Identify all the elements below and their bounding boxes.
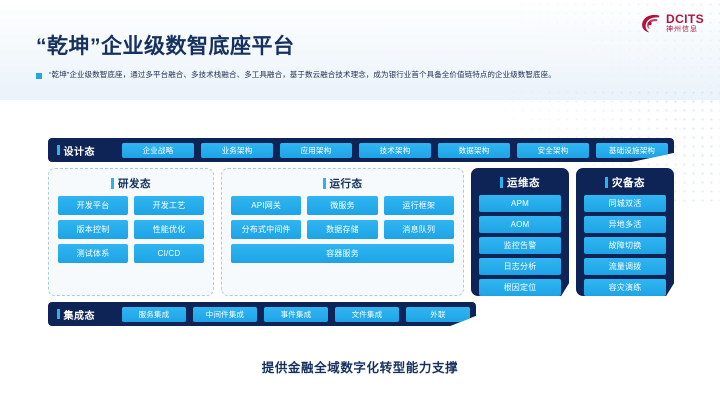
panel-dr-row: 容灾演练 [584,279,666,296]
panel-ops-row: AOM [479,216,561,233]
panel-dev[interactable]: 研发态 开发平台 开发工艺 版本控制 性能优化 测试体系 CI/CD [48,168,214,296]
accent-tick-icon [57,309,60,319]
panel-dr-row: 同城双活 [584,195,666,212]
panel-dev-row: 开发平台 开发工艺 [58,196,204,215]
panel-dr-row: 异地多活 [584,216,666,233]
panel-ops-row: 监控告警 [479,237,561,254]
panel-dev-title: 研发态 [58,176,204,190]
layer-integration[interactable]: 集成态 服务集成 中间件集成 事件集成 文件集成 外联 [48,302,476,326]
layer-design[interactable]: 设计态 企业战略 业务架构 应用架构 技术架构 数据架构 安全架构 基础设施架构 [48,138,674,162]
panel-dev-title-text: 研发态 [118,176,151,191]
chip-run-0-1[interactable]: 微服务 [307,196,377,215]
chip-run-0-2[interactable]: 运行框架 [384,196,454,215]
chip-dr-2[interactable]: 故障切换 [584,237,666,254]
panel-run-row: 容器服务 [231,244,454,263]
chip-dev-0-0[interactable]: 开发平台 [58,196,128,215]
panel-dev-row: 版本控制 性能优化 [58,220,204,239]
chip-integration-4[interactable]: 外联 [406,307,470,322]
panel-ops-row: 根因定位 [479,279,561,296]
chip-dev-2-1[interactable]: CI/CD [134,244,204,263]
dcits-swirl-icon [640,12,662,34]
chip-run-0-0[interactable]: API网关 [231,196,301,215]
summary-bullet: “乾坤”企业级数智底座，通过多平台融合、多技术栈融合、多工具融合，基于数云融合技… [36,70,690,80]
chip-run-1-1[interactable]: 数据存储 [307,220,377,239]
brand-logo: DCITS 神州信息 [640,12,704,34]
accent-tick-icon [323,178,326,189]
panel-dr-title-text: 灾备态 [612,175,645,190]
chip-design-1[interactable]: 业务架构 [201,143,273,158]
chip-design-5[interactable]: 安全架构 [517,143,589,158]
chip-dev-2-0[interactable]: 测试体系 [58,244,128,263]
panel-ops-title-text: 运维态 [507,175,540,190]
layer-integration-label-text: 集成态 [64,307,96,322]
panel-ops[interactable]: 运维态 APM AOM 监控告警 日志分析 根因定位 [471,168,569,296]
panel-run[interactable]: 运行态 API网关 微服务 运行框架 分布式中间件 数据存储 消息队列 容器服务 [221,168,464,296]
chip-integration-2[interactable]: 事件集成 [264,307,328,322]
chip-ops-1[interactable]: AOM [479,216,561,233]
panel-dr[interactable]: 灾备态 同城双活 异地多活 故障切换 流量调拨 容灾演练 [576,168,674,296]
chip-run-2-0[interactable]: 容器服务 [231,244,454,263]
page-title: “乾坤”企业级数智底座平台 [36,30,295,60]
accent-tick-icon [605,177,608,188]
chip-dr-1[interactable]: 异地多活 [584,216,666,233]
panel-dr-row: 故障切换 [584,237,666,254]
chip-run-1-2[interactable]: 消息队列 [384,220,454,239]
chip-dev-1-0[interactable]: 版本控制 [58,220,128,239]
accent-tick-icon [111,178,114,189]
panel-run-title-text: 运行态 [330,176,363,191]
chip-design-6[interactable]: 基础设施架构 [596,143,668,158]
summary-bullet-text: “乾坤”企业级数智底座，通过多平台融合、多技术栈融合、多工具融合，基于数云融合技… [49,70,556,80]
accent-tick-icon [500,177,503,188]
accent-tick-icon [57,145,60,155]
chip-dr-3[interactable]: 流量调拨 [584,258,666,275]
panel-dr-title: 灾备态 [584,175,666,189]
chip-ops-2[interactable]: 监控告警 [479,237,561,254]
panel-dr-row: 流量调拨 [584,258,666,275]
chip-dr-0[interactable]: 同城双活 [584,195,666,212]
chip-ops-0[interactable]: APM [479,195,561,212]
chip-integration-3[interactable]: 文件集成 [335,307,399,322]
architecture-diagram: 设计态 企业战略 业务架构 应用架构 技术架构 数据架构 安全架构 基础设施架构… [48,138,674,338]
chip-dev-1-1[interactable]: 性能优化 [134,220,204,239]
panel-dev-row: 测试体系 CI/CD [58,244,204,263]
bullet-square-icon [36,73,42,79]
chip-ops-3[interactable]: 日志分析 [479,258,561,275]
layer-integration-label: 集成态 [57,307,115,322]
chip-integration-0[interactable]: 服务集成 [122,307,186,322]
panel-ops-row: 日志分析 [479,258,561,275]
layer-design-label: 设计态 [57,143,115,158]
chip-ops-4[interactable]: 根因定位 [479,279,561,296]
chip-design-3[interactable]: 技术架构 [359,143,431,158]
chip-design-4[interactable]: 数据架构 [438,143,510,158]
panel-ops-row: APM [479,195,561,212]
chip-dev-0-1[interactable]: 开发工艺 [134,196,204,215]
chip-design-2[interactable]: 应用架构 [280,143,352,158]
logo-text-cn: 神州信息 [666,26,704,33]
chip-run-1-0[interactable]: 分布式中间件 [231,220,301,239]
panel-run-row: 分布式中间件 数据存储 消息队列 [231,220,454,239]
panel-ops-title: 运维态 [479,175,561,189]
chip-design-0[interactable]: 企业战略 [122,143,194,158]
panel-run-row: API网关 微服务 运行框架 [231,196,454,215]
chip-integration-1[interactable]: 中间件集成 [193,307,257,322]
chip-dr-4[interactable]: 容灾演练 [584,279,666,296]
panel-run-title: 运行态 [231,176,454,190]
footer-tagline: 提供金融全域数字化转型能力支撑 [0,357,720,376]
layer-design-label-text: 设计态 [64,143,96,158]
slide-canvas: DCITS 神州信息 “乾坤”企业级数智底座平台 “乾坤”企业级数智底座，通过多… [0,0,720,405]
logo-text-en: DCITS [666,13,704,25]
middle-band: 研发态 开发平台 开发工艺 版本控制 性能优化 测试体系 CI/CD [48,168,674,296]
